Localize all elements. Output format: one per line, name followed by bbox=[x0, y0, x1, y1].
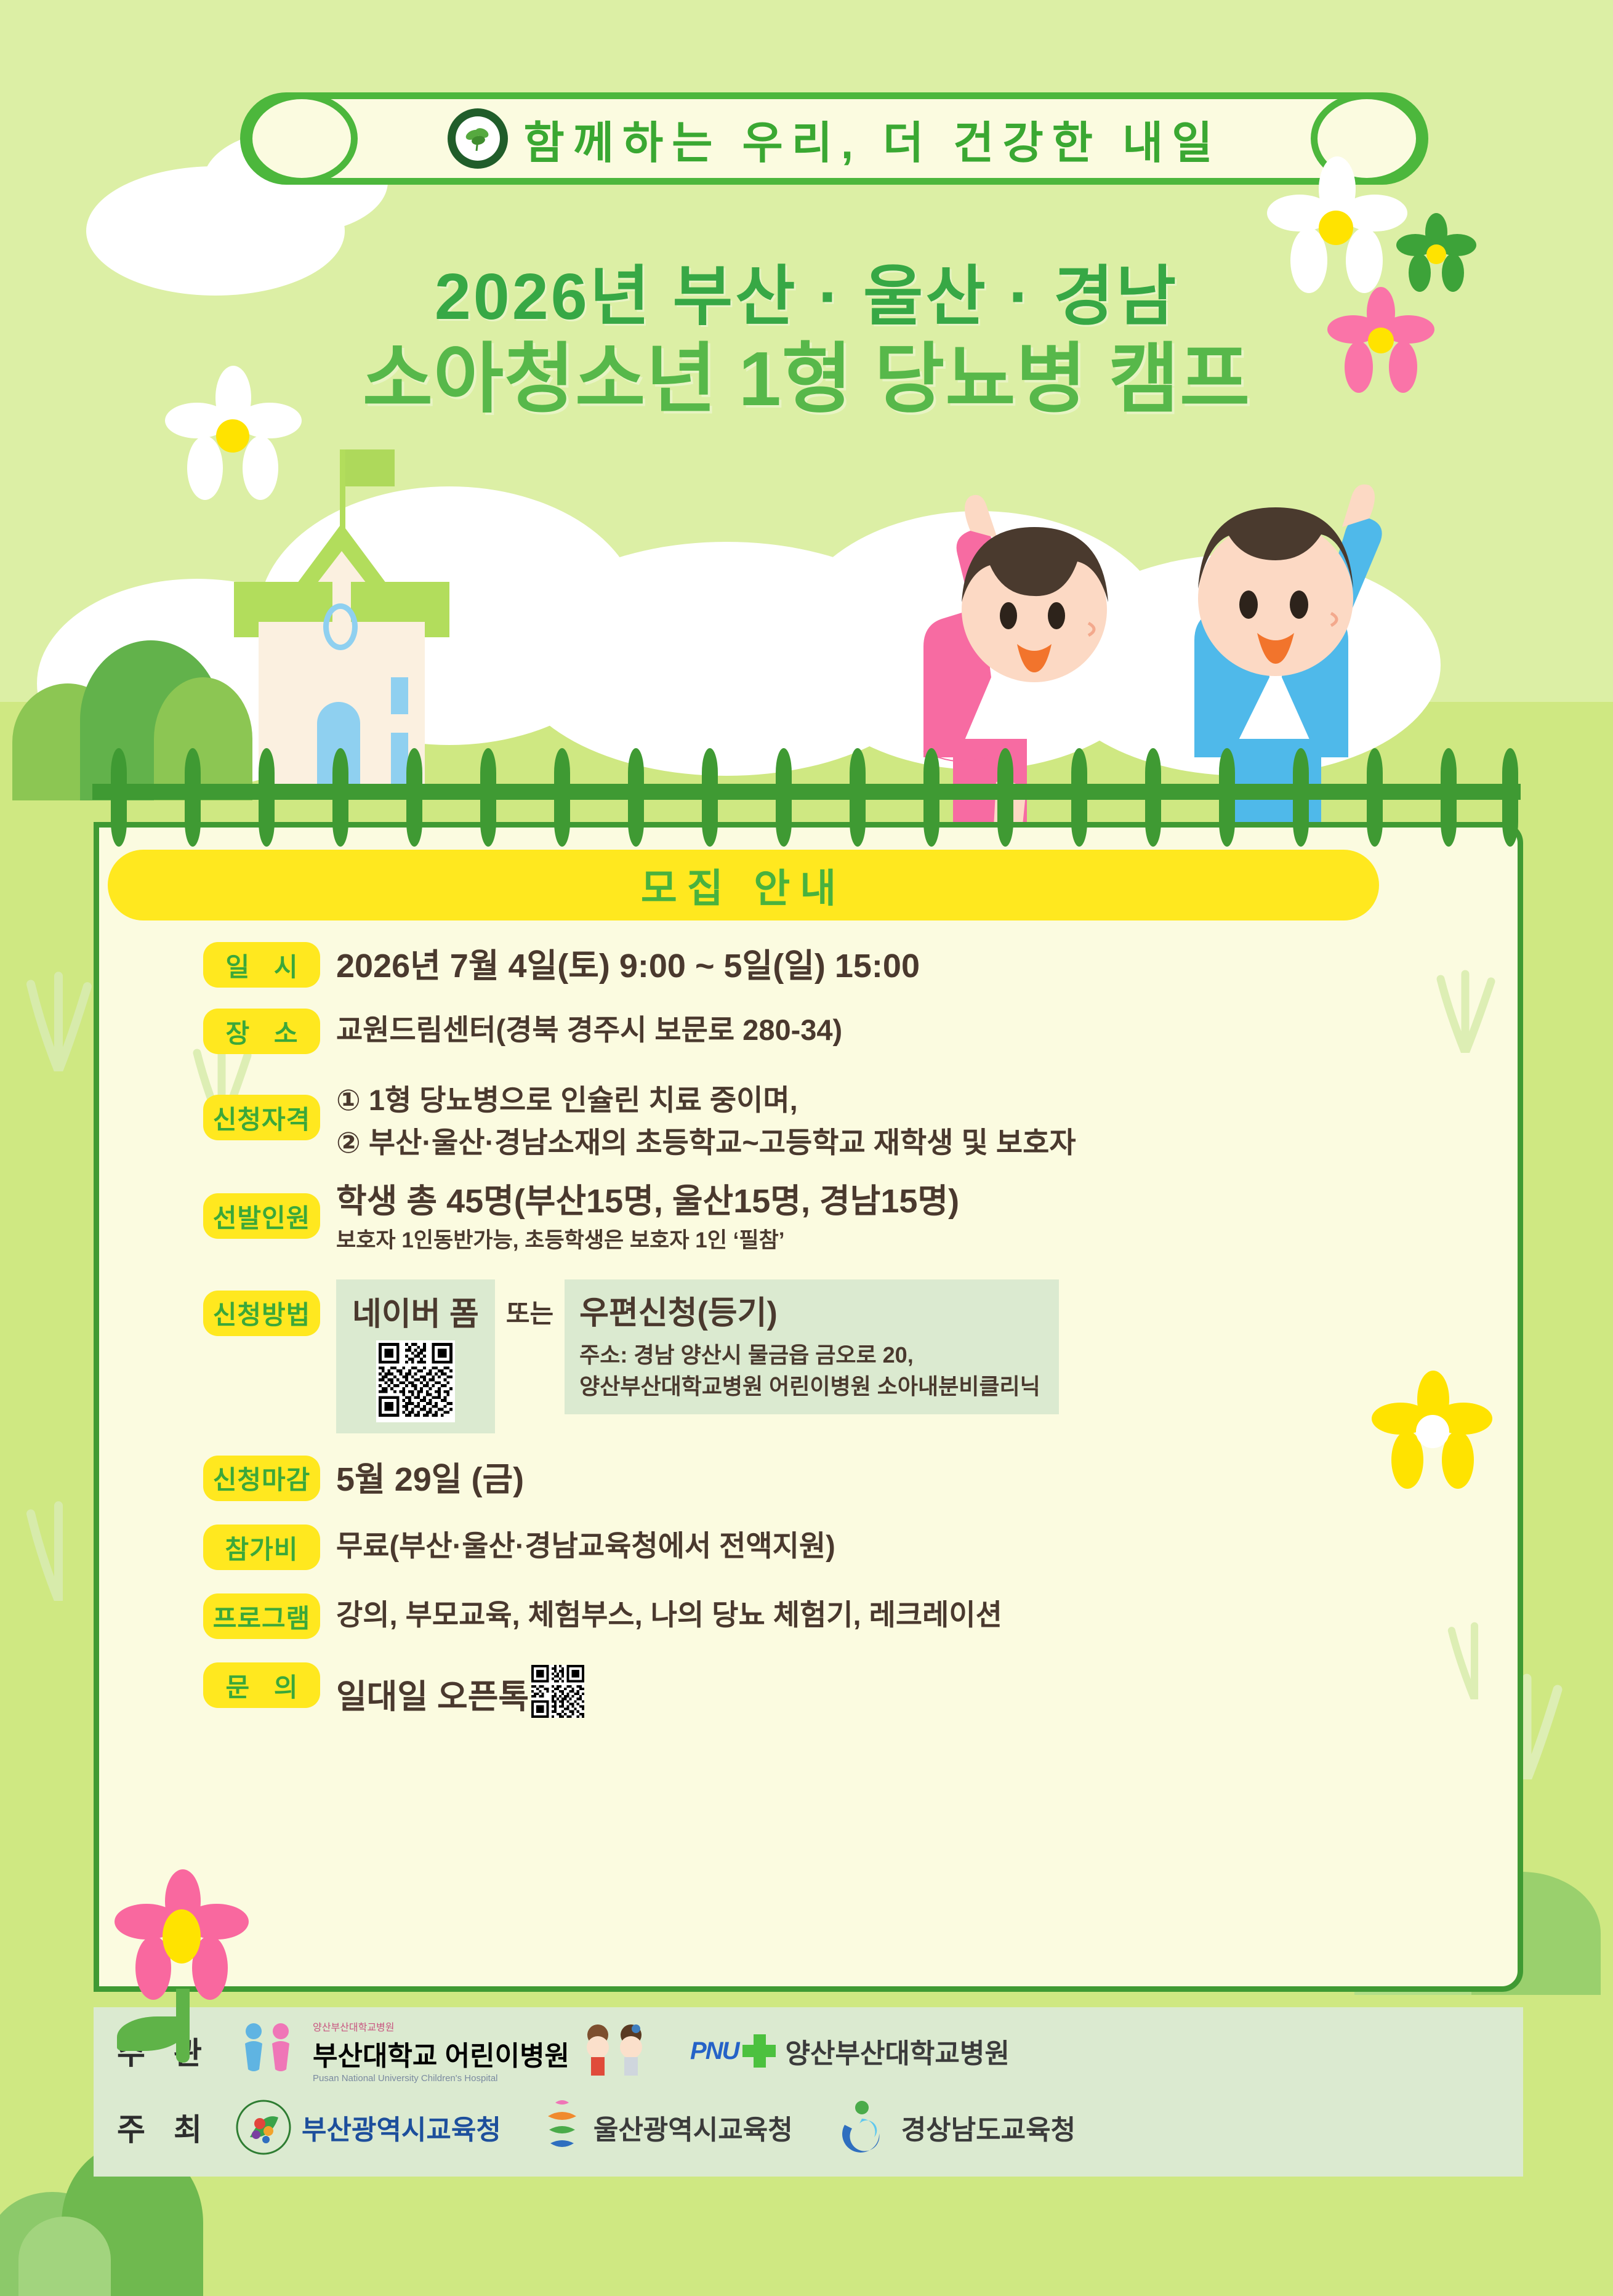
pnu-children-hospital-icon bbox=[235, 2021, 303, 2080]
card-header-text: 모집 안내 bbox=[641, 857, 846, 914]
apply-or-text: 또는 bbox=[495, 1279, 565, 1331]
sponsor-pnu-childrens-hospital: 양산부산대학교병원 부산대학교 어린이병원 Pusan National Uni… bbox=[235, 2019, 651, 2084]
apply-postal-label: 우편신청(등기) bbox=[579, 1287, 1040, 1333]
busan-education-icon bbox=[235, 2099, 292, 2156]
sponsor-busan-education-office: 부산광역시교육청 bbox=[235, 2099, 501, 2156]
gyeongnam-education-name: 경상남도교육청 bbox=[901, 2108, 1076, 2147]
value-eligibility-1: ① 1형 당뇨병으로 인슐린 치료 중이며, bbox=[336, 1081, 1496, 1119]
label-fee: 참가비 bbox=[203, 1525, 320, 1570]
sponsor-row-hosts: 주 관 양산부산대학교병원 부산대학교 어린이병원 Pusan National… bbox=[94, 2017, 1523, 2085]
naver-form-qr-code[interactable] bbox=[376, 1340, 455, 1422]
pnu-mark-text: PNU bbox=[690, 2037, 738, 2065]
row-apply-method: 신청방법 네이버 폼 bbox=[203, 1277, 1496, 1433]
value-quota-note: 보호자 1인동반가능, 초등학생은 보호자 1인 ‘필참’ bbox=[336, 1226, 1496, 1255]
title-line-2: 소아청소년 1형 당뇨병 캠프 bbox=[0, 336, 1613, 424]
yangsan-hospital-name: 양산부산대학교병원 bbox=[786, 2031, 1010, 2071]
label-quota: 선발인원 bbox=[203, 1193, 320, 1239]
value-quota: 학생 총 45명(부산15명, 울산15명, 경남15명) bbox=[336, 1180, 1496, 1223]
label-location: 장 소 bbox=[203, 1009, 320, 1054]
row-fee: 참가비 무료(부산·울산·경남교육청에서 전액지원) bbox=[203, 1525, 1496, 1570]
medical-cross-icon bbox=[742, 2034, 776, 2068]
label-contact: 문 의 bbox=[203, 1662, 320, 1708]
row-deadline: 신청마감 5월 29일 (금) bbox=[203, 1456, 1496, 1501]
value-deadline: 5월 29일 (금) bbox=[336, 1458, 1496, 1501]
value-eligibility-2: ② 부산·울산·경남소재의 초등학교~고등학교 재학생 및 보호자 bbox=[336, 1124, 1496, 1161]
hospital-latin: Pusan National University Children's Hos… bbox=[313, 2073, 569, 2084]
title-line-1: 2026년 부산 · 울산 · 경남 bbox=[0, 259, 1613, 336]
opentalk-qr-code[interactable] bbox=[531, 1665, 584, 1728]
value-program: 강의, 부모교육, 체험부스, 나의 당뇨 체험기, 레크레이션 bbox=[336, 1596, 1496, 1633]
apply-address-2: 양산부산대학교병원 어린이병원 소아내분비클리닉 bbox=[579, 1371, 1040, 1402]
label-deadline: 신청마감 bbox=[203, 1456, 320, 1501]
flower-yellow-right bbox=[1374, 1373, 1491, 1490]
label-program: 프로그램 bbox=[203, 1593, 320, 1639]
ulsan-education-icon bbox=[541, 2098, 584, 2157]
row-program: 프로그램 강의, 부모교육, 체험부스, 나의 당뇨 체험기, 레크레이션 bbox=[203, 1593, 1496, 1639]
busan-education-name: 부산광역시교육청 bbox=[302, 2108, 501, 2147]
row-contact: 문 의 일대일 오픈톡 bbox=[203, 1662, 1496, 1728]
fence-binding bbox=[0, 748, 1613, 859]
camp-logo-icon bbox=[448, 108, 508, 169]
label-apply-method: 신청방법 bbox=[203, 1291, 320, 1336]
hospital-name: 부산대학교 어린이병원 bbox=[313, 2034, 569, 2073]
apply-postal-panel: 우편신청(등기) 주소: 경남 양산시 물금읍 금오로 20, 양산부산대학교병… bbox=[565, 1279, 1059, 1414]
info-rows: 일 시 2026년 7월 4일(토) 9:00 ~ 5일(일) 15:00 장 … bbox=[203, 942, 1496, 1733]
flower-pink-contact bbox=[117, 1872, 246, 2001]
bush-bottom-3 bbox=[18, 2217, 111, 2296]
poster-title: 2026년 부산 · 울산 · 경남 소아청소년 1형 당뇨병 캠프 bbox=[0, 259, 1613, 424]
apply-naver-label: 네이버 폼 bbox=[352, 1288, 479, 1334]
label-datetime: 일 시 bbox=[203, 942, 320, 988]
sponsor-ulsan-education-office: 울산광역시교육청 bbox=[541, 2098, 793, 2157]
value-fee: 무료(부산·울산·경남교육청에서 전액지원) bbox=[336, 1527, 1496, 1565]
apply-naver-panel: 네이버 폼 bbox=[336, 1279, 495, 1433]
sponsor-row-organizers: 주 최 부산광역시교육청 울산 bbox=[94, 2093, 1523, 2161]
slogan-text: 함께하는 우리, 더 건강한 내일 bbox=[524, 107, 1221, 171]
sponsor-yangsan-pnu-hospital: PNU 양산부산대학교병원 bbox=[690, 2031, 1010, 2071]
label-eligibility: 신청자격 bbox=[203, 1095, 320, 1140]
value-location: 교원드림센터(경북 경주시 보문로 280-34) bbox=[336, 1011, 1496, 1049]
row-quota: 선발인원 학생 총 45명(부산15명, 울산15명, 경남15명) 보호자 1… bbox=[203, 1177, 1496, 1254]
card-header: 모집 안내 bbox=[108, 850, 1379, 920]
grass-left-mid bbox=[12, 961, 105, 1071]
grass-left-low bbox=[12, 1490, 105, 1601]
row-eligibility: 신청자격 ① 1형 당뇨병으로 인슐린 치료 중이며, ② 부산·울산·경남소재… bbox=[203, 1079, 1496, 1161]
sponsor-band: 주 관 양산부산대학교병원 부산대학교 어린이병원 Pusan National… bbox=[94, 2007, 1523, 2177]
sponsor-organizer-label: 주 최 bbox=[94, 2105, 235, 2149]
sponsor-gyeongnam-education-office: 경상남도교육청 bbox=[832, 2098, 1076, 2157]
hospital-mascots-icon bbox=[579, 2023, 651, 2079]
poster: 함께하는 우리, 더 건강한 내일 2026년 bbox=[0, 0, 1613, 2296]
value-contact: 일대일 오픈톡 bbox=[336, 1675, 529, 1718]
gyeongnam-education-icon bbox=[832, 2098, 891, 2157]
hospital-subbrand: 양산부산대학교병원 bbox=[313, 2019, 569, 2034]
apply-address-1: 주소: 경남 양산시 물금읍 금오로 20, bbox=[579, 1339, 1040, 1371]
row-location: 장 소 교원드림센터(경북 경주시 보문로 280-34) bbox=[203, 1009, 1496, 1054]
row-datetime: 일 시 2026년 7월 4일(토) 9:00 ~ 5일(일) 15:00 bbox=[203, 942, 1496, 988]
ulsan-education-name: 울산광역시교육청 bbox=[593, 2108, 793, 2147]
slogan-banner: 함께하는 우리, 더 건강한 내일 bbox=[240, 92, 1428, 185]
value-datetime: 2026년 7월 4일(토) 9:00 ~ 5일(일) 15:00 bbox=[336, 945, 1496, 988]
